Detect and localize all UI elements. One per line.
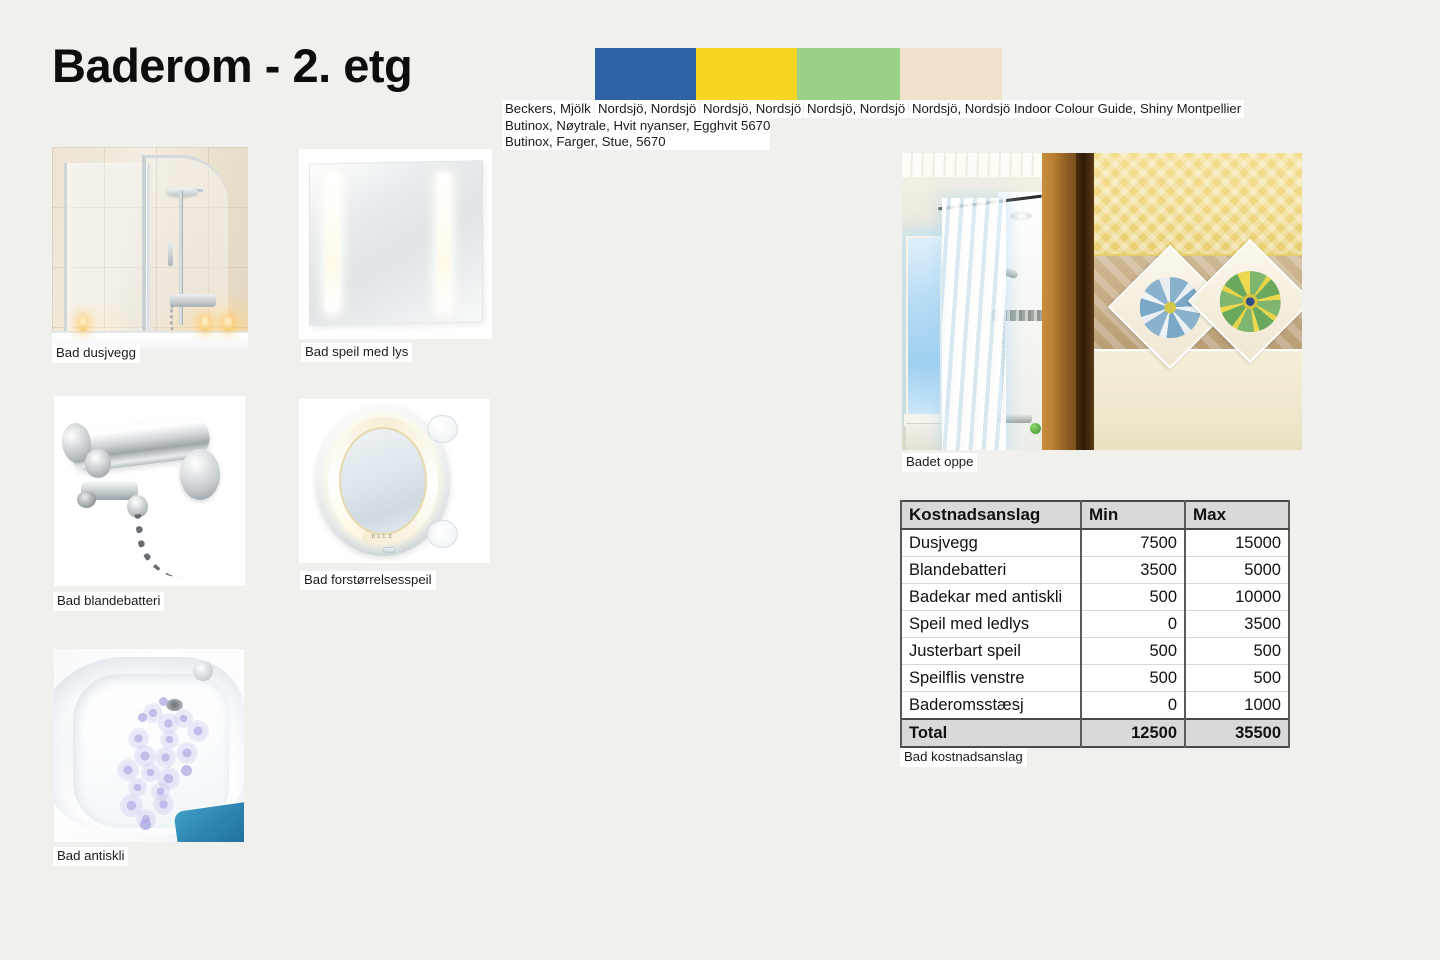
header-kostnadsanslag: Kostnadsanslag <box>901 501 1081 529</box>
caption-bathroom-photo: Badet oppe <box>902 453 977 472</box>
total-label: Total <box>901 719 1081 747</box>
row-min: 0 <box>1081 611 1185 638</box>
bathroom-photo-image <box>902 153 1302 450</box>
picture-tile-mixer-tap[interactable]: Bad blandebatteri <box>54 396 245 586</box>
table-row: Dusjvegg 7500 15000 <box>901 529 1289 557</box>
row-item: Speilflis venstre <box>901 665 1081 692</box>
led-mirror-image <box>299 149 492 339</box>
row-min: 500 <box>1081 638 1185 665</box>
palette-label-beckers: Beckers, Mjölk <box>502 100 594 118</box>
row-item: Blandebatteri <box>901 557 1081 584</box>
table-header-row: Kostnadsanslag Min Max <box>901 501 1289 529</box>
caption-shower-screen: Bad dusjvegg <box>52 344 140 363</box>
row-max: 10000 <box>1185 584 1289 611</box>
row-min: 0 <box>1081 692 1185 720</box>
cost-estimate-table-wrap: Kostnadsanslag Min Max Dusjvegg 7500 150… <box>900 500 1290 748</box>
table-row: Blandebatteri 3500 5000 <box>901 557 1289 584</box>
slide-canvas: Baderom - 2. etg Beckers, Mjölk Nordsjö,… <box>0 0 1440 960</box>
table-row: Speil med ledlys 0 3500 <box>901 611 1289 638</box>
table-row: Badekar med antiskli 500 10000 <box>901 584 1289 611</box>
cream-swatch <box>900 48 1002 100</box>
picture-tile-bathroom-photo[interactable]: Badet oppe <box>902 153 1302 450</box>
row-max: 5000 <box>1185 557 1289 584</box>
antislip-bathtub-image <box>54 649 244 842</box>
row-min: 500 <box>1081 665 1185 692</box>
palette-label-cream: Nordsjö, Nordsjö Indoor Colour Guide, Sh… <box>909 100 1244 118</box>
row-max: 500 <box>1185 638 1289 665</box>
picture-tile-antislip-bathtub[interactable]: Bad antiskli <box>54 649 244 842</box>
row-item: Badekar med antiskli <box>901 584 1081 611</box>
palette-extra-line-1: Butinox, Nøytrale, Hvit nyanser, Egghvit… <box>502 118 770 134</box>
row-item: Justerbart speil <box>901 638 1081 665</box>
blue-swatch <box>595 48 696 100</box>
row-item: Speil med ledlys <box>901 611 1081 638</box>
table-row: Justerbart speil 500 500 <box>901 638 1289 665</box>
cost-estimate-table: Kostnadsanslag Min Max Dusjvegg 7500 150… <box>900 500 1290 748</box>
total-min: 12500 <box>1081 719 1185 747</box>
row-item: Dusjvegg <box>901 529 1081 557</box>
row-max: 1000 <box>1185 692 1289 720</box>
header-min: Min <box>1081 501 1185 529</box>
total-max: 35500 <box>1185 719 1289 747</box>
caption-magnifying-mirror: Bad forstørrelsesspeil <box>300 571 436 590</box>
magnifying-mirror-image: ELLE <box>299 399 490 563</box>
caption-led-mirror: Bad speil med lys <box>301 343 412 362</box>
palette-label-yellow: Nordsjö, Nordsjö <box>700 100 803 118</box>
header-max: Max <box>1185 501 1289 529</box>
mixer-tap-image <box>54 396 245 586</box>
table-row: Baderomsstæsj 0 1000 <box>901 692 1289 720</box>
row-min: 7500 <box>1081 529 1185 557</box>
row-min: 3500 <box>1081 557 1185 584</box>
palette-label-blue: Nordsjö, Nordsjö <box>595 100 699 118</box>
shower-screen-image <box>52 147 248 349</box>
row-max: 500 <box>1185 665 1289 692</box>
row-item: Baderomsstæsj <box>901 692 1081 720</box>
picture-tile-led-mirror[interactable]: Bad speil med lys <box>299 149 492 339</box>
page-title: Baderom - 2. etg <box>52 38 412 93</box>
table-row: Speilflis venstre 500 500 <box>901 665 1289 692</box>
caption-cost-table: Bad kostnadsanslag <box>900 748 1027 767</box>
picture-tile-magnifying-mirror[interactable]: ELLE Bad forstørrelsesspeil <box>299 399 490 563</box>
palette-label-green: Nordsjö, Nordsjö <box>804 100 908 118</box>
yellow-swatch <box>696 48 797 100</box>
table-total-row: Total 12500 35500 <box>901 719 1289 747</box>
palette-extra-line-2: Butinox, Farger, Stue, 5670 <box>502 134 770 150</box>
colour-swatch-strip <box>595 48 1002 100</box>
picture-tile-shower-screen[interactable]: Bad dusjvegg <box>52 147 248 349</box>
row-min: 500 <box>1081 584 1185 611</box>
green-swatch <box>797 48 900 100</box>
caption-antislip-bathtub: Bad antiskli <box>53 847 128 866</box>
caption-mixer-tap: Bad blandebatteri <box>53 592 164 611</box>
row-max: 3500 <box>1185 611 1289 638</box>
row-max: 15000 <box>1185 529 1289 557</box>
palette-caption-group: Beckers, Mjölk Nordsjö, Nordsjö Nordsjö,… <box>502 100 1244 150</box>
